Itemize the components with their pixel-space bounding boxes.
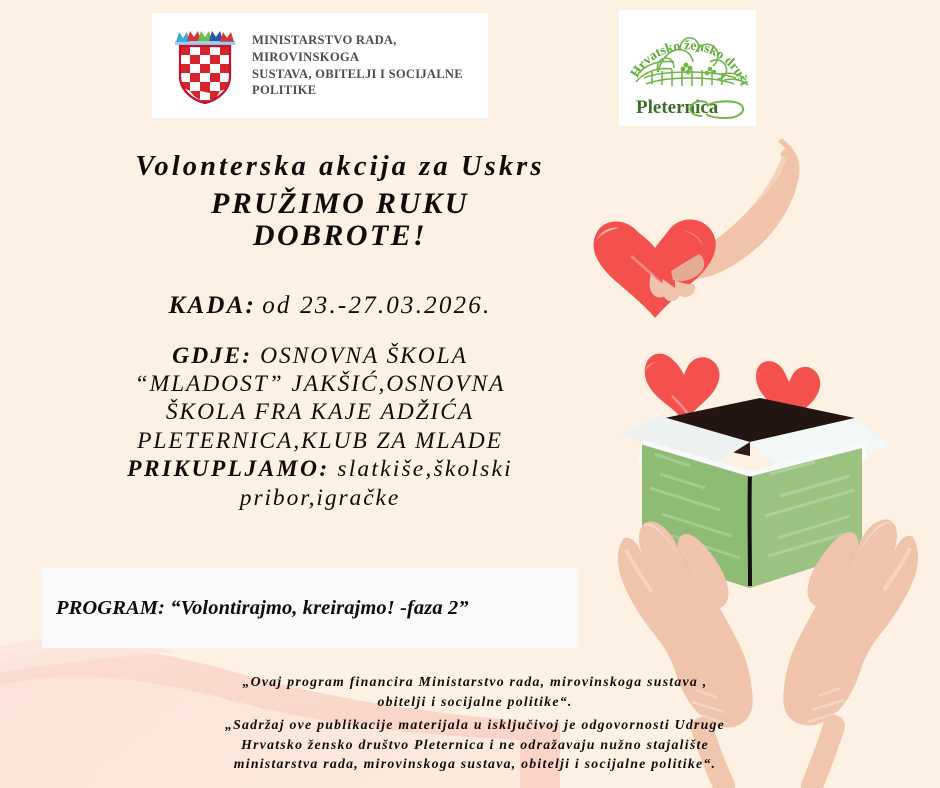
prikupljamo-value-1: slatkiše,školski — [337, 456, 513, 482]
hzd-pleternica-logo: Hrvatsko žensko društvo — [619, 10, 756, 126]
detail-kada: KADA: od 23.-27.03.2026. — [60, 292, 600, 321]
program-text: PROGRAM: “Volontirajmo, kreirajmo! -faza… — [56, 597, 469, 620]
floating-heart-left — [645, 354, 720, 422]
poster-canvas: MINISTARSTVO RADA, MIROVINSKOGA SUSTAVA,… — [0, 0, 940, 788]
page-title: Volonterska akcija za Uskrs PRUŽIMO RUKU… — [60, 152, 620, 252]
title-line-3: DOBROTE! — [60, 220, 620, 252]
prikupljamo-label: PRIKUPLJAMO: — [127, 456, 329, 482]
ministry-logo: MINISTARSTVO RADA, MIROVINSKOGA SUSTAVA,… — [152, 13, 488, 118]
gdje-label: GDJE: — [172, 343, 252, 369]
ministry-logo-line-1: MINISTARSTVO RADA, MIROVINSKOGA — [252, 32, 488, 65]
footer-p1-line-1: „Ovaj program financira Ministarstvo rad… — [60, 672, 890, 692]
gdje-value-3: ŠKOLA FRA KAJE ADŽIĆA — [40, 398, 600, 426]
ministry-logo-line-2: SUSTAVA, OBITELJI I SOCIJALNE POLITIKE — [252, 66, 488, 99]
gdje-value-4: PLETERNICA,KLUB ZA MLADE — [40, 427, 600, 455]
ministry-logo-text: MINISTARSTVO RADA, MIROVINSKOGA SUSTAVA,… — [252, 32, 488, 98]
footer-p2-line-2: Hrvatsko žensko društvo Pleternica i ne … — [60, 735, 890, 755]
footer-paragraph-1: „Ovaj program financira Ministarstvo rad… — [60, 672, 890, 711]
gdje-line-1: GDJE: OSNOVNA ŠKOLA — [40, 342, 600, 370]
program-callout-box: PROGRAM: “Volontirajmo, kreirajmo! -faza… — [42, 568, 578, 648]
gdje-value-1: OSNOVNA ŠKOLA — [260, 343, 468, 369]
prikupljamo-value-2: pribor,igračke — [40, 484, 600, 513]
croatian-coat-of-arms-icon — [174, 28, 236, 104]
floating-heart-right — [756, 361, 820, 424]
title-line-1: Volonterska akcija za Uskrs — [60, 152, 620, 182]
title-line-2: PRUŽIMO RUKU — [60, 188, 620, 220]
footer-p2-line-3: ministarstva rada, mirovinskoga sustava,… — [60, 754, 890, 774]
footer-paragraph-2: „Sadržaj ove publikacije materijala u is… — [60, 715, 890, 774]
prikupljamo-line-1: PRIKUPLJAMO: slatkiše,školski — [40, 455, 600, 484]
footer-disclaimer: „Ovaj program financira Ministarstvo rad… — [60, 672, 890, 774]
detail-gdje: GDJE: OSNOVNA ŠKOLA “MLADOST” JAKŠIĆ,OSN… — [40, 342, 600, 455]
detail-prikupljamo: PRIKUPLJAMO: slatkiše,školski pribor,igr… — [40, 455, 600, 512]
footer-p2-line-1: „Sadržaj ove publikacije materijala u is… — [60, 715, 890, 735]
gdje-value-2: “MLADOST” JAKŠIĆ,OSNOVNA — [40, 370, 600, 398]
hand-holding-heart-illustration — [575, 138, 940, 343]
kada-label: KADA: — [169, 292, 256, 319]
kada-value: od 23.-27.03.2026. — [262, 292, 491, 319]
footer-p1-line-2: obitelji i socijalne politike“. — [60, 692, 890, 712]
hzd-pleternica-emblem-icon: Hrvatsko žensko društvo — [622, 12, 753, 124]
